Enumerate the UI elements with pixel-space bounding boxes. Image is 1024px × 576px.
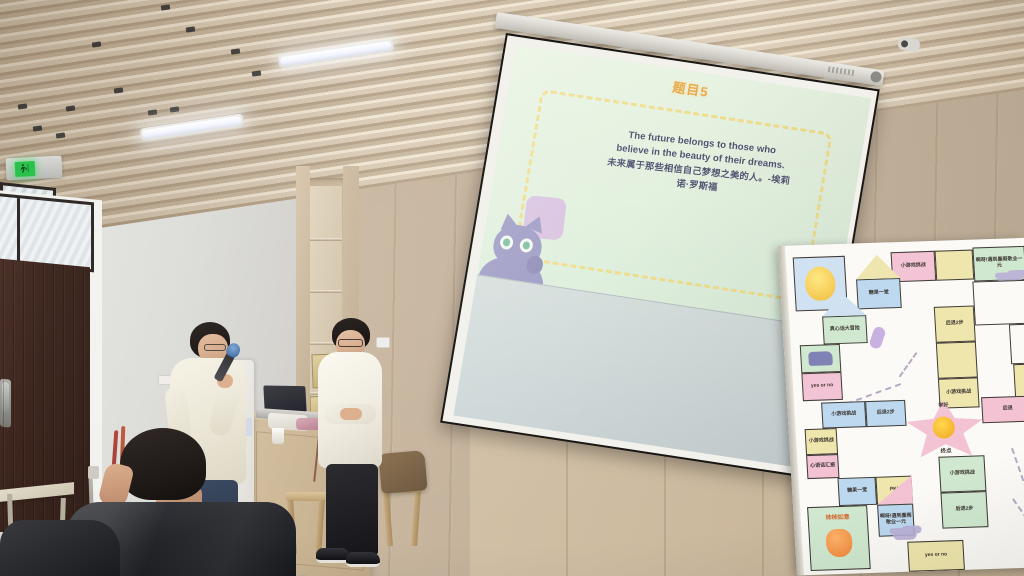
poster-cell [936,341,978,378]
poster-triangle [855,254,900,279]
finish-star: 终点 学好 [905,399,984,457]
student-presenter [318,318,390,576]
audience-head [120,428,206,500]
poster-cell: 小游戏挑战 [821,401,866,428]
door-handle[interactable] [2,382,9,413]
student-hands [340,408,362,420]
student-shoe-left [316,548,350,563]
poster-cell: 真心话大冒险 [822,315,868,344]
picture-card-persimmon: 柿柿如意 [807,505,871,571]
poster-cell: 小游戏挑战 [805,428,838,455]
dashed-path [1012,498,1024,527]
poster-cell-jeep [800,344,842,373]
board-game-poster: 小游戏挑战 啊呀!遇到墨雨敬业一元 糖果一堂 真心话大冒险 yes or no … [778,238,1024,576]
poster-cell: 后退 [981,396,1024,424]
finish-label: 终点 [908,445,984,456]
poster-cell: 后退2步 [934,306,976,343]
poster-cell: 糖果一堂 [837,477,877,506]
game-piece[interactable] [868,325,886,350]
persimmon-icon [825,528,853,557]
student-shoe-right [346,552,380,567]
jeep-icon [808,351,833,366]
poster-cell-blank [972,280,1024,326]
classroom-photo: 题目5 The future belongs to those who beli… [0,0,1024,576]
cloud-sticker [892,527,917,540]
persimmon-caption: 柿柿如意 [808,511,867,522]
poster-cell: 心语话汇报 [806,454,839,479]
poster-cell [1013,364,1024,399]
poster-triangle [821,293,866,316]
transom-mullion [17,198,20,262]
poster-cell-blank [1009,324,1024,365]
poster-cell: 后退2步 [940,491,988,528]
door-handle-plate [0,379,11,428]
poster-cell: 小游戏挑战 [938,455,986,492]
roller-label [828,66,855,76]
speaker-glasses [204,344,226,351]
exit-running-man-icon [15,160,36,176]
poster-triangle [875,476,913,505]
dashed-path [899,352,918,377]
poster-cell: yes or no [801,372,843,401]
exit-sign [5,156,62,181]
student-glasses [338,339,363,347]
poster-grid: 小游戏挑战 啊呀!遇到墨雨敬业一元 糖果一堂 真心话大冒险 yes or no … [778,238,1024,576]
roller-end-knob[interactable] [870,71,883,84]
start-label: 学好 [905,400,981,410]
foreground-person [0,520,120,576]
dashed-path [1011,448,1024,490]
student-legs [326,464,378,554]
stool-leg [411,492,421,546]
poster-cell: yes or no [907,540,965,572]
poster-cell [935,250,975,281]
poster-cell: 后退2步 [865,400,906,427]
